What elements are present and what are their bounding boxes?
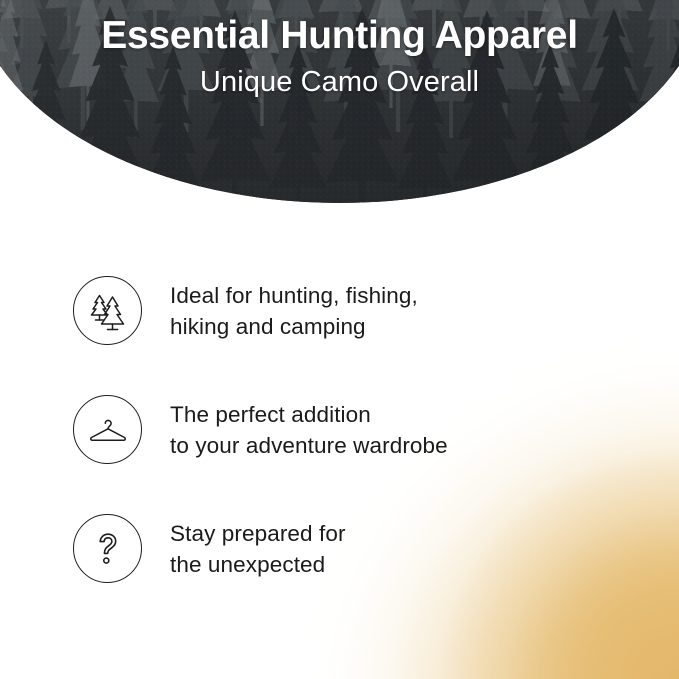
pine-trees-icon: [73, 276, 142, 345]
hero-banner: Essential Hunting Apparel Unique Camo Ov…: [0, 0, 679, 203]
feature-list: Ideal for hunting, fishing, hiking and c…: [73, 276, 633, 633]
question-mark-icon: [73, 514, 142, 583]
feature-text-prepared: Stay prepared for the unexpected: [170, 514, 346, 580]
clothes-hanger-icon: [73, 395, 142, 464]
feature-item-hunting: Ideal for hunting, fishing, hiking and c…: [73, 276, 633, 395]
hero-text-block: Essential Hunting Apparel Unique Camo Ov…: [0, 16, 679, 99]
feature-item-prepared: Stay prepared for the unexpected: [73, 514, 633, 633]
promo-card: Essential Hunting Apparel Unique Camo Ov…: [0, 0, 679, 679]
feature-item-wardrobe: The perfect addition to your adventure w…: [73, 395, 633, 514]
page-subtitle: Unique Camo Overall: [0, 67, 679, 99]
page-title: Essential Hunting Apparel: [0, 16, 679, 57]
feature-text-wardrobe: The perfect addition to your adventure w…: [170, 395, 448, 461]
feature-text-hunting: Ideal for hunting, fishing, hiking and c…: [170, 276, 418, 342]
